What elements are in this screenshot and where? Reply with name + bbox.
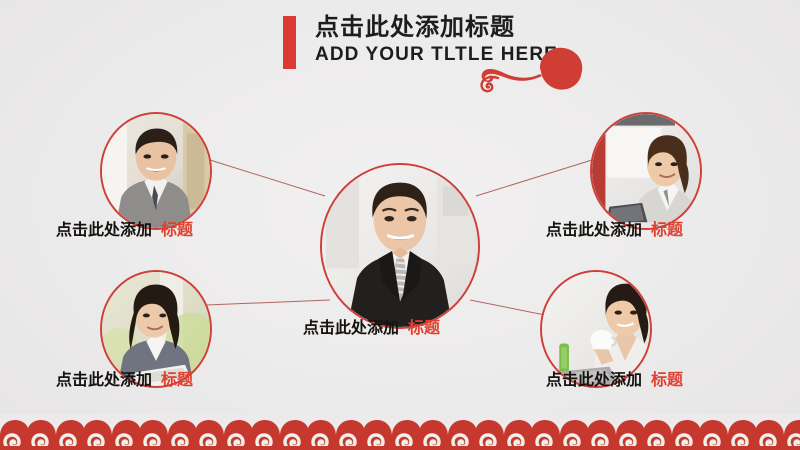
node-label-main: 点击此处添加 bbox=[56, 370, 152, 389]
connector-center-to-bottom-left bbox=[206, 300, 330, 305]
portrait-image-center bbox=[322, 165, 478, 327]
portrait-photo-center[interactable] bbox=[320, 163, 480, 329]
title-chinese: 点击此处添加标题 bbox=[315, 15, 558, 39]
portrait-image-top-right bbox=[592, 114, 700, 228]
portrait-photo-top-left[interactable] bbox=[100, 112, 212, 230]
node-label-main: 点击此处添加 bbox=[56, 220, 152, 239]
red-accent-bar bbox=[283, 16, 296, 69]
node-label-accent: 标题 bbox=[161, 220, 193, 239]
node-label-bottom-left: 点击此处添加标题 bbox=[56, 372, 193, 388]
node-label-top-right: 点击此处添加标题 bbox=[546, 222, 683, 238]
node-label-accent: 标题 bbox=[651, 370, 683, 389]
portrait-image-bottom-right bbox=[542, 272, 650, 386]
node-label-main: 点击此处添加 bbox=[546, 370, 642, 389]
title-english: ADD YOUR TLTLE HERE bbox=[315, 45, 558, 64]
chinese-cloud-border bbox=[0, 414, 800, 450]
connector-center-to-top-right bbox=[476, 160, 592, 196]
node-label-accent: 标题 bbox=[408, 318, 440, 337]
title-text-group: 点击此处添加标题 ADD YOUR TLTLE HERE bbox=[315, 15, 558, 64]
connector-center-to-bottom-right bbox=[470, 300, 545, 315]
page-title: 点击此处添加标题 ADD YOUR TLTLE HERE bbox=[283, 15, 558, 69]
node-label-accent: 标题 bbox=[651, 220, 683, 239]
node-label-top-left: 点击此处添加标题 bbox=[56, 222, 193, 238]
node-label-center: 点击此处添加标题 bbox=[303, 320, 440, 336]
portrait-image-bottom-left bbox=[102, 272, 210, 386]
portrait-image-top-left bbox=[102, 114, 210, 228]
node-label-bottom-right: 点击此处添加标题 bbox=[546, 372, 683, 388]
portrait-photo-top-right[interactable] bbox=[590, 112, 702, 230]
node-label-main: 点击此处添加 bbox=[546, 220, 642, 239]
node-label-accent: 标题 bbox=[161, 370, 193, 389]
node-label-main: 点击此处添加 bbox=[303, 318, 399, 337]
slide-canvas: 点击此处添加标题 ADD YOUR TLTLE HERE bbox=[0, 0, 800, 450]
connector-center-to-top-left bbox=[210, 160, 325, 196]
